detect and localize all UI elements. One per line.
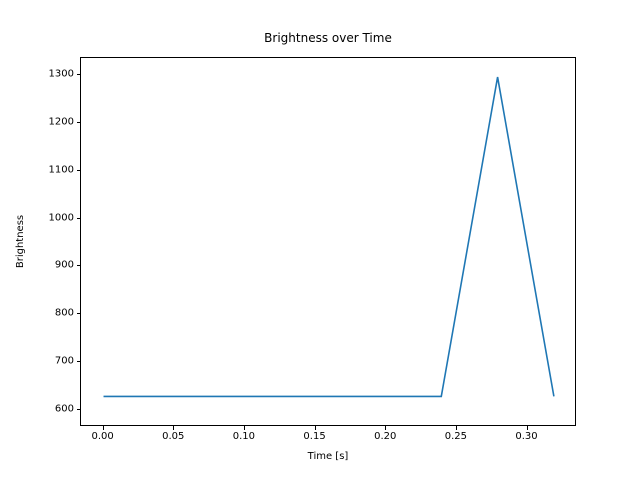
x-tick-label: 0.20: [355, 431, 415, 443]
x-tick-mark: [173, 426, 174, 430]
x-tick-mark: [103, 426, 104, 430]
x-tick-label: 0.05: [143, 431, 203, 443]
y-axis-label: Brightness: [14, 57, 28, 426]
x-tick-mark: [385, 426, 386, 430]
x-tick-label: 0.25: [426, 431, 486, 443]
y-tick-label: 1300: [34, 68, 74, 79]
x-tick-label: 0.10: [214, 431, 274, 443]
y-tick-label: 1000: [34, 212, 74, 223]
x-tick-mark: [527, 426, 528, 430]
plot-line-svg: [81, 58, 575, 425]
x-tick-mark: [456, 426, 457, 430]
matplotlib-figure: Brightness over Time Brightness 60070080…: [0, 0, 640, 480]
plot-axes: [80, 57, 576, 426]
chart-title: Brightness over Time: [80, 31, 576, 45]
y-tick-label: 800: [34, 308, 74, 319]
brightness-line-series: [104, 77, 554, 396]
x-tick-label: 0.15: [285, 431, 345, 443]
y-tick-label: 1200: [34, 116, 74, 127]
x-tick-label: 0.30: [497, 431, 557, 443]
y-tick-label: 700: [34, 356, 74, 367]
y-axis-tick-labels: 6007008009001000110012001300: [30, 57, 74, 426]
y-tick-label: 600: [34, 404, 74, 415]
x-tick-mark: [315, 426, 316, 430]
x-axis-label: Time [s]: [80, 451, 576, 463]
x-axis-tick-labels: 0.000.050.100.150.200.250.30: [80, 431, 576, 447]
x-tick-label: 0.00: [73, 431, 133, 443]
y-tick-label: 900: [34, 260, 74, 271]
x-tick-mark: [244, 426, 245, 430]
y-tick-label: 1100: [34, 164, 74, 175]
